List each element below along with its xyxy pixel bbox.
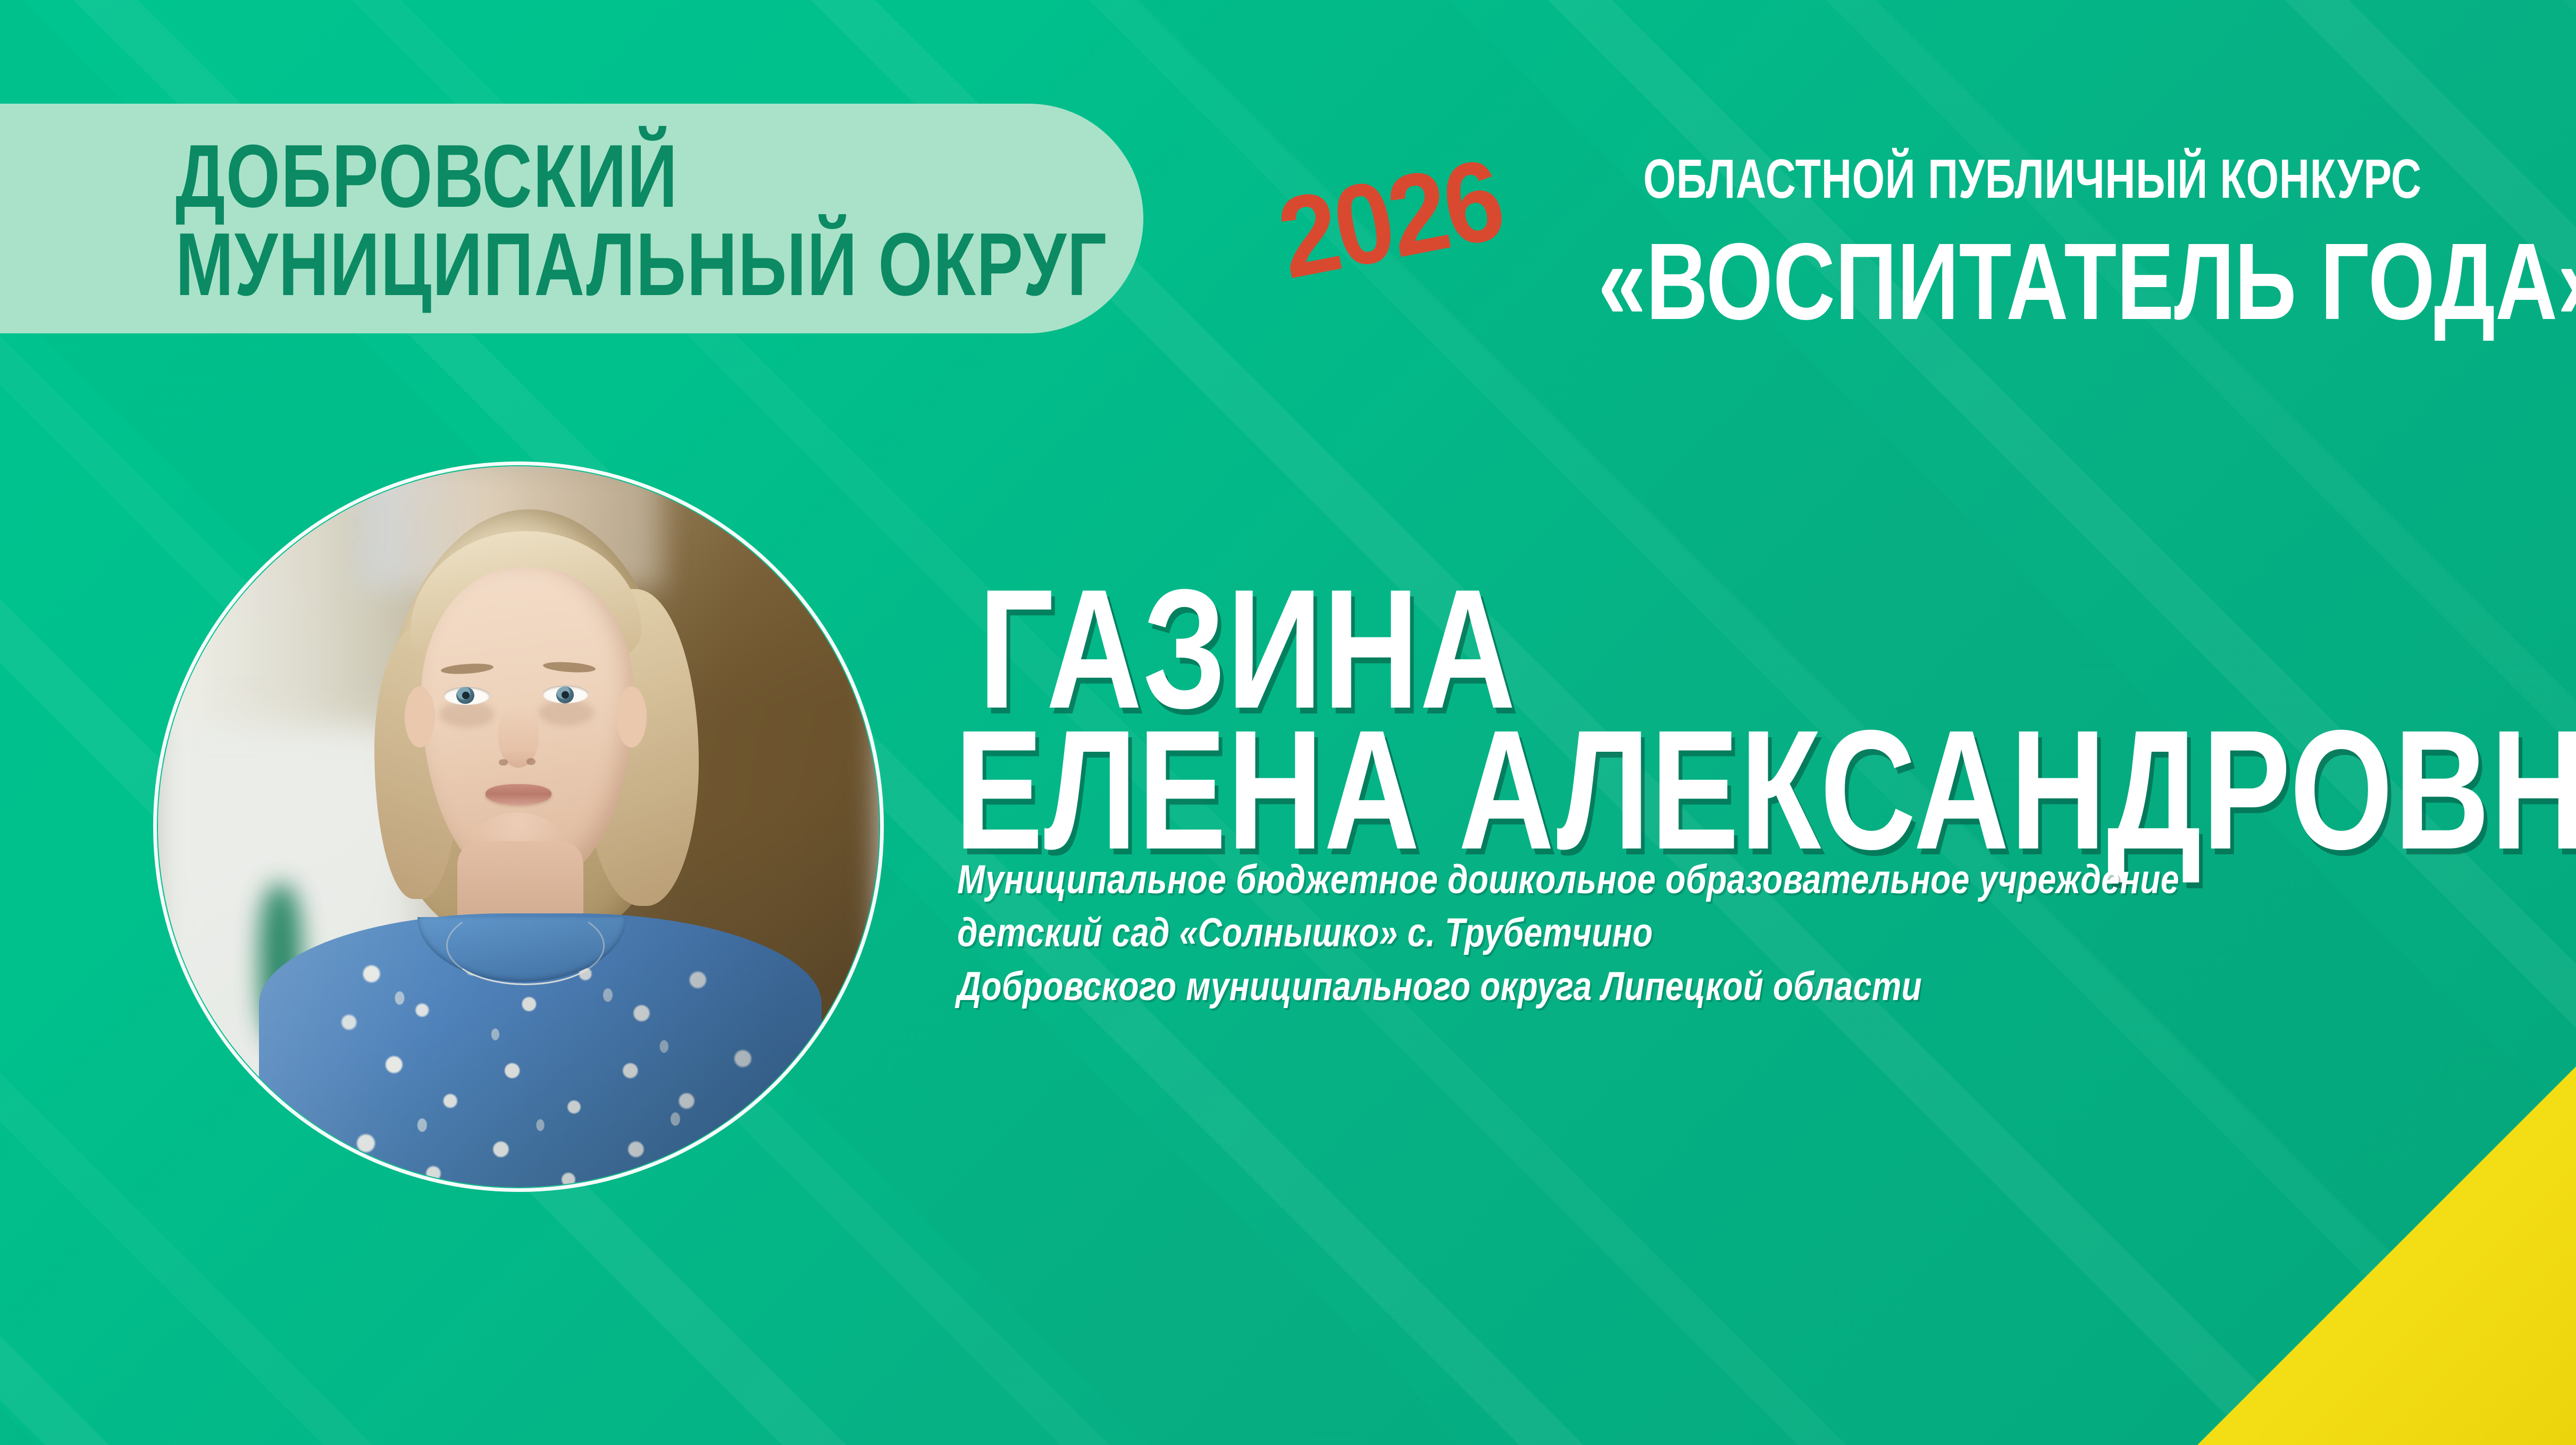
- ear-right: [616, 686, 647, 747]
- municipality-badge-line1: ДОБРОВСКИЙ: [175, 132, 1107, 220]
- portrait-photo: [158, 466, 879, 1187]
- organization-line3: Добровского муниципального округа Липецк…: [957, 960, 2179, 1013]
- organization-line2: детский сад «Солнышко» с. Трубетчино: [957, 906, 2179, 960]
- eye-shadow-left: [439, 701, 494, 727]
- contest-kicker: ОБЛАСТНОЙ ПУБЛИЧНЫЙ КОНКУРС: [1643, 148, 2422, 211]
- municipality-badge-line2: МУНИЦИПАЛЬНЫЙ ОКРУГ: [175, 220, 1107, 308]
- nostril-right: [526, 758, 536, 765]
- poster-canvas: ДОБРОВСКИЙ МУНИЦИПАЛЬНЫЙ ОКРУГ 2026 ОБЛА…: [0, 0, 2576, 1445]
- ear-left: [405, 686, 435, 747]
- eye-shadow-right: [539, 700, 593, 726]
- pupil-left: [462, 692, 470, 699]
- necklace: [446, 906, 605, 985]
- year-label: 2026: [1268, 133, 1512, 305]
- participant-portrait: [153, 461, 884, 1192]
- organization-line1: Муниципальное бюджетное дошкольное образ…: [957, 853, 2179, 906]
- yellow-corner-accent: [2197, 1066, 2576, 1445]
- participant-organization: Муниципальное бюджетное дошкольное образ…: [957, 853, 2179, 1013]
- municipality-badge-text: ДОБРОВСКИЙ МУНИЦИПАЛЬНЫЙ ОКРУГ: [175, 132, 1107, 309]
- portrait-image: [158, 466, 879, 1187]
- contest-title: «ВОСПИТАТЕЛЬ ГОДА»: [1598, 219, 2576, 345]
- participant-given-name: ЕЛЕНА АЛЕКСАНДРОВНА: [955, 704, 2576, 875]
- pupil-right: [562, 691, 569, 699]
